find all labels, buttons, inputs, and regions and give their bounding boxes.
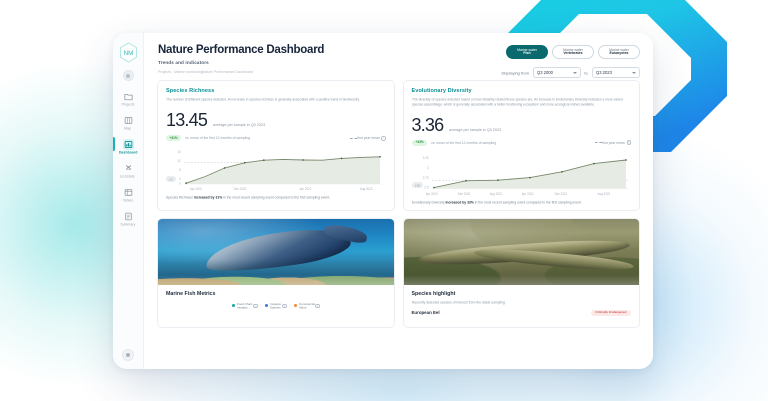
x-axis-ticks: Apr 2020 Dec 2020 Aug 2021 Apr 2022 Dec … [425, 191, 610, 195]
svg-text:Apr 2020: Apr 2020 [425, 191, 437, 195]
y-axis-ticks: 16 12 8 4 0 [177, 150, 181, 186]
area-chart-svg: 3.25 3 2.75 2.5 [412, 151, 632, 197]
tab-marine-water-vertebrates[interactable]: Marine water Vertebrates [552, 45, 594, 59]
breadcrumb-item: Nature Performance Dashboard [202, 70, 253, 75]
card-species-richness: Species Richness The number of different… [157, 80, 395, 211]
breadcrumb-item[interactable]: Projects [158, 70, 171, 75]
tab-line2: Eukaryotes [603, 52, 635, 56]
legend-color-dot [294, 304, 297, 307]
card-description: The number of different species detected… [166, 97, 384, 102]
card-footer: Species Richness increased by 31% in the… [166, 195, 423, 200]
sidebar-item-label: Tables [123, 199, 133, 203]
card-value-row: 13.45 average per sample in Q3 2023 [166, 111, 386, 129]
species-row: European Eel Critically Endangered [412, 310, 632, 317]
status-badge-text: +31% [169, 137, 177, 140]
status-badge-text: +33% [415, 141, 423, 144]
svg-text:3: 3 [426, 165, 428, 169]
svg-text:2.75: 2.75 [422, 175, 428, 179]
account-avatar-icon[interactable] [122, 349, 134, 361]
sidebar-item-label: Summary [120, 223, 135, 227]
sidebar-item-map[interactable]: Map [113, 114, 143, 131]
card-value: 3.36 [412, 116, 444, 134]
main-content: Nature Performance Dashboard Trends and … [144, 33, 653, 369]
card-value-row: 3.36 average per sample in Q3 2023 [412, 116, 632, 134]
filter-controls: Marine water Fish Marine water Vertebrat… [506, 45, 640, 78]
table-icon [123, 187, 134, 198]
hexagon-logo-icon[interactable]: NM [119, 42, 138, 63]
image-fade [158, 275, 394, 285]
card-evolutionary-diversity: Evolutionary Diversity The diversity of … [403, 80, 641, 211]
info-icon[interactable]: i [627, 140, 632, 145]
info-icon[interactable]: i [381, 136, 386, 141]
sidebar-item-tables[interactable]: Tables [113, 186, 143, 203]
fish-metrics-legend: Food ChainIntegrity i InvasiveSpecies i … [166, 303, 386, 309]
card-species-highlight: Species highlight Recently detected spec… [403, 218, 641, 328]
conservation-status-badge: Critically Endangered [591, 310, 631, 317]
summary-icon [123, 211, 134, 222]
chart-legend: first year mean i [350, 136, 386, 141]
tab-marine-water-fish[interactable]: Marine water Fish [506, 45, 548, 59]
legend-color-dot [265, 304, 268, 307]
legend-label: first year mean [357, 136, 380, 141]
species-name: European Eel [412, 310, 440, 315]
footer-prefix: Evolutionary Diversity [412, 200, 445, 205]
card-title: Species Richness [166, 88, 386, 94]
fish-metrics-body: Marine Fish Metrics Food ChainIntegrity … [158, 285, 394, 315]
x-axis-ticks: Apr 2020 Dec 2020 Apr 2022 Aug 2023 [190, 187, 373, 191]
footer-highlight: increased by 31% [194, 195, 222, 200]
svg-text:0.0: 0.0 [169, 177, 173, 181]
legend-color-dot [232, 304, 235, 307]
user-avatar-icon[interactable] [123, 70, 134, 81]
info-icon[interactable]: i [315, 304, 320, 309]
svg-text:Dec 2022: Dec 2022 [554, 191, 567, 195]
footer-prefix: Species Richness [166, 195, 194, 200]
sidebar-item-dashboard[interactable]: Dashboard [113, 138, 143, 155]
info-icon[interactable]: i [253, 304, 258, 309]
area-chart-svg: 16 12 8 4 0 [166, 146, 386, 192]
breadcrumb-item[interactable]: Marine monitoring [174, 70, 203, 75]
svg-text:NM: NM [123, 50, 133, 57]
chevron-down-icon [573, 72, 577, 74]
chart-legend: first year mean i [595, 140, 631, 145]
svg-text:Dec 2020: Dec 2020 [457, 191, 470, 195]
whale-reef-photo [158, 219, 394, 285]
card-value: 13.45 [166, 111, 207, 129]
legend-label: InvasiveSpecies [270, 302, 281, 309]
status-badge: +33% [412, 140, 427, 146]
status-badge: +31% [166, 135, 181, 141]
y-axis-badge: 2.50 [412, 182, 423, 188]
sidebar-item-label: Projects [121, 103, 134, 107]
sidebar-item-label: Map [125, 127, 132, 131]
legend-label: first year mean [603, 140, 626, 145]
chevron-down-icon [632, 72, 636, 74]
svg-text:Aug 2023: Aug 2023 [597, 191, 610, 195]
tab-line2: Fish [511, 52, 543, 56]
card-subtitle: Recently detected species of interest fr… [412, 300, 641, 305]
sidebar-item-summary[interactable]: Summary [113, 210, 143, 227]
legend-label: CommercialValue [299, 302, 315, 309]
app-window: NM Projects Map Dashboard [113, 33, 653, 369]
species-highlight-body: Species highlight Recently detected spec… [404, 285, 640, 323]
dashboard-icon [123, 139, 134, 150]
media-cards-row: Marine Fish Metrics Food ChainIntegrity … [144, 211, 653, 328]
card-badge-row: +31% vs. mean of the first 12 months of … [166, 135, 386, 141]
dataset-tab-group: Marine water Fish Marine water Vertebrat… [506, 45, 640, 59]
card-value-caption: average per sample in Q3 2023 [449, 127, 501, 132]
svg-text:2.5: 2.5 [424, 185, 428, 189]
y-axis-ticks: 3.25 3 2.75 2.5 [422, 155, 428, 189]
sidebar: NM Projects Map Dashboard [113, 33, 144, 369]
footer-highlight: increased by 33% [445, 200, 473, 205]
tab-marine-water-eukaryotes[interactable]: Marine water Eukaryotes [598, 45, 640, 59]
legend-item-invasive-species[interactable]: InvasiveSpecies i [265, 303, 287, 309]
tab-line2: Vertebrates [557, 52, 589, 56]
footer-suffix: in the most recent sampling event compar… [473, 200, 581, 205]
card-badge-row: +33% vs. mean of the first 12 months of … [412, 140, 632, 146]
svg-text:Apr 2022: Apr 2022 [300, 187, 312, 191]
card-marine-fish-metrics: Marine Fish Metrics Food ChainIntegrity … [157, 218, 395, 328]
card-description: The diversity of species detected based … [412, 97, 630, 107]
badge-caption: vs. mean of the first 12 months of sampl… [431, 140, 496, 145]
image-fade [404, 275, 640, 285]
area-fill [186, 157, 380, 184]
date-range-controls: Displaying from Q3 2000 to Q3 2023 [506, 67, 640, 78]
svg-text:Apr 2022: Apr 2022 [521, 191, 533, 195]
card-value-caption: average per sample in Q3 2023 [213, 123, 265, 128]
card-title: Evolutionary Diversity [412, 88, 632, 94]
sidebar-item-ecostats[interactable]: EcoStats [113, 162, 143, 179]
area-fill [433, 160, 625, 189]
svg-text:2.50: 2.50 [414, 183, 420, 187]
svg-text:8: 8 [179, 168, 181, 172]
date-to-value: Q3 2023 [596, 70, 612, 75]
svg-text:Dec 2020: Dec 2020 [234, 187, 247, 191]
svg-text:12: 12 [177, 159, 181, 163]
date-from-select[interactable]: Q3 2000 [533, 67, 581, 78]
dna-icon [123, 163, 134, 174]
svg-text:4: 4 [179, 177, 181, 181]
info-icon[interactable]: i [282, 304, 287, 309]
legend-label: Food ChainIntegrity [237, 302, 252, 309]
folder-icon [123, 91, 134, 102]
metric-cards-row: Species Richness The number of different… [144, 74, 653, 211]
european-eel-photo [404, 219, 640, 285]
card-title: Species highlight [412, 291, 632, 297]
y-axis-badge: 0.0 [166, 176, 176, 182]
svg-text:3.25: 3.25 [422, 155, 428, 159]
svg-text:Aug 2023: Aug 2023 [360, 187, 373, 191]
page-header: Nature Performance Dashboard Trends and … [144, 33, 653, 74]
date-from-label: Displaying from [502, 70, 529, 75]
sidebar-item-projects[interactable]: Projects [113, 90, 143, 107]
dashed-line-icon [350, 138, 357, 139]
legend-item-commercial-value[interactable]: CommercialValue i [294, 303, 320, 309]
date-to-select[interactable]: Q3 2023 [592, 67, 640, 78]
chart-evolutionary-diversity: 3.25 3 2.75 2.5 [412, 151, 632, 197]
map-icon [123, 115, 134, 126]
date-to-label: to [585, 70, 588, 75]
card-title: Marine Fish Metrics [166, 291, 386, 297]
svg-text:16: 16 [177, 150, 181, 154]
sidebar-nav-list: Projects Map Dashboard EcoStats [113, 90, 143, 227]
chart-species-richness: 16 12 8 4 0 [166, 146, 386, 192]
svg-text:Apr 2020: Apr 2020 [190, 187, 202, 191]
legend-item-food-chain-integrity[interactable]: Food ChainIntegrity i [232, 303, 258, 309]
sidebar-item-label: EcoStats [121, 175, 135, 179]
footer-suffix: in the most recent sampling event compar… [222, 195, 330, 200]
svg-text:Aug 2021: Aug 2021 [489, 191, 502, 195]
svg-text:0: 0 [179, 182, 181, 186]
card-footer: Evolutionary Diversity increased by 33% … [412, 200, 654, 205]
date-from-value: Q3 2000 [537, 70, 553, 75]
badge-caption: vs. mean of the first 12 months of sampl… [185, 136, 250, 141]
sidebar-item-label: Dashboard [119, 151, 138, 155]
